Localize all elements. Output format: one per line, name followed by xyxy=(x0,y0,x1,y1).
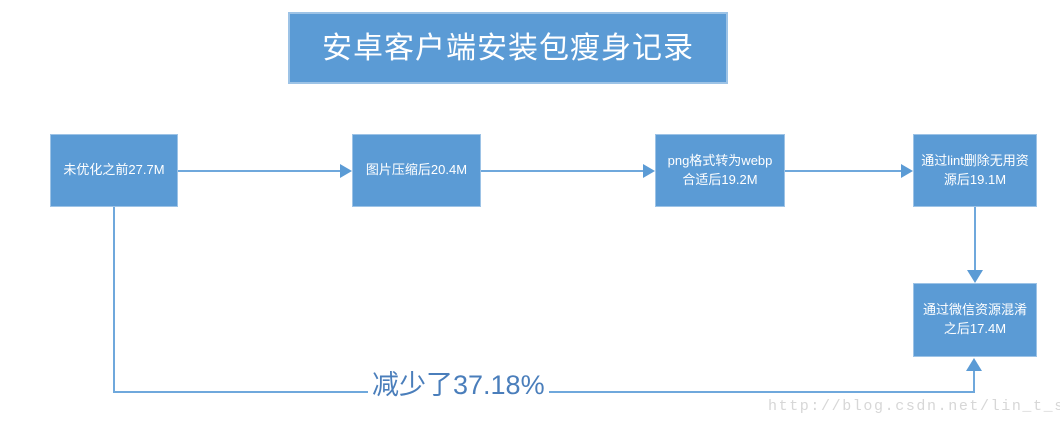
flow-node-image-compression[interactable]: 图片压缩后20.4M xyxy=(352,134,481,207)
diagram-canvas: 安卓客户端安装包瘦身记录 未优化之前27.7M 图片压缩后20.4M png格式… xyxy=(0,0,1060,430)
connector-summary-vertical-right xyxy=(973,371,975,393)
flow-node-label-line1: png格式转为webp xyxy=(668,152,773,171)
flow-node-label: png格式转为webp 合适后19.2M xyxy=(668,152,773,190)
flow-node-label-line1: 未优化之前27.7M xyxy=(63,161,164,180)
flow-node-label: 图片压缩后20.4M xyxy=(366,161,467,180)
connector-node3-to-node4 xyxy=(785,170,901,172)
connector-node2-to-node3 xyxy=(481,170,643,172)
arrow-right-icon xyxy=(643,164,655,178)
flow-node-label-line2: 合适后19.2M xyxy=(668,171,773,190)
arrow-right-icon xyxy=(340,164,352,178)
flow-node-label: 通过微信资源混淆 之后17.4M xyxy=(923,301,1027,339)
flow-node-label-line1: 通过微信资源混淆 xyxy=(923,301,1027,320)
diagram-title-banner: 安卓客户端安装包瘦身记录 xyxy=(288,12,728,84)
connector-node4-to-node5 xyxy=(974,207,976,270)
flow-node-label: 通过lint删除无用资 源后19.1M xyxy=(921,152,1029,190)
connector-summary-vertical-left xyxy=(113,207,115,393)
flow-node-label: 未优化之前27.7M xyxy=(63,161,164,180)
flow-node-png-to-webp[interactable]: png格式转为webp 合适后19.2M xyxy=(655,134,785,207)
arrow-up-icon xyxy=(966,358,982,371)
flow-node-label-line1: 通过lint删除无用资 xyxy=(921,152,1029,171)
reduction-label: 减少了37.18% xyxy=(368,372,549,399)
flow-node-lint-unused-resources[interactable]: 通过lint删除无用资 源后19.1M xyxy=(913,134,1037,207)
arrow-right-icon xyxy=(901,164,913,178)
flow-node-label-line1: 图片压缩后20.4M xyxy=(366,161,467,180)
arrow-down-icon xyxy=(967,270,983,283)
watermark-url: http://blog.csdn.net/lin_t_s xyxy=(768,398,1060,415)
diagram-title-text: 安卓客户端安装包瘦身记录 xyxy=(322,32,694,65)
flow-node-label-line2: 之后17.4M xyxy=(923,320,1027,339)
flow-node-unoptimized[interactable]: 未优化之前27.7M xyxy=(50,134,178,207)
flow-node-wechat-resource-obfuscation[interactable]: 通过微信资源混淆 之后17.4M xyxy=(913,283,1037,357)
connector-node1-to-node2 xyxy=(178,170,340,172)
flow-node-label-line2: 源后19.1M xyxy=(921,171,1029,190)
